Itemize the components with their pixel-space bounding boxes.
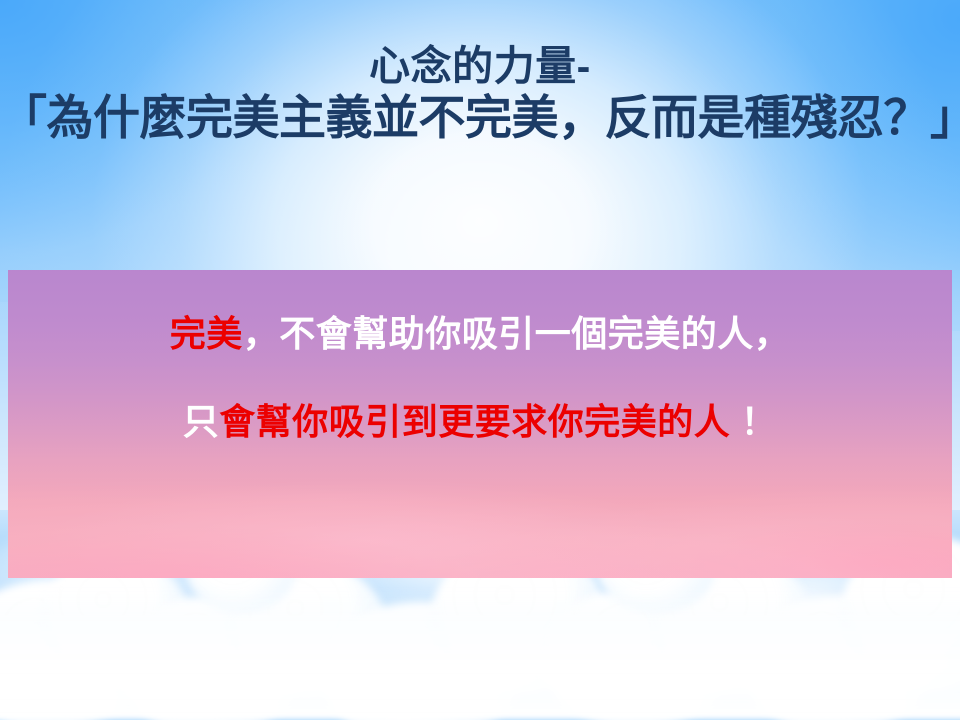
body-line-1-red: 完美: [170, 313, 243, 354]
body-line-2-red: 會幫你吸引到更要求你完美的人: [219, 401, 730, 442]
body-line-2-white-tail: ！: [730, 401, 777, 442]
body-line-2-white-lead: 只: [183, 401, 220, 442]
title-line-1: 心念的力量-: [0, 46, 960, 88]
body-line-2: 只會幫你吸引到更要求你完美的人 ！: [0, 404, 960, 440]
body-line-1-white: ，不會幫助你吸引一個完美的人，: [243, 313, 791, 354]
page-title: 心念的力量- 「為什麼完美主義並不完美，反而是種殘忍？」: [0, 46, 960, 142]
cloud-haze: [0, 588, 960, 720]
title-line-2: 「為什麼完美主義並不完美，反而是種殘忍？」: [0, 94, 960, 142]
body-text: 完美，不會幫助你吸引一個完美的人， 只會幫你吸引到更要求你完美的人 ！: [0, 316, 960, 440]
body-line-1: 完美，不會幫助你吸引一個完美的人，: [0, 316, 960, 352]
slide-canvas: 心念的力量- 「為什麼完美主義並不完美，反而是種殘忍？」 完美，不會幫助你吸引一…: [0, 0, 960, 720]
